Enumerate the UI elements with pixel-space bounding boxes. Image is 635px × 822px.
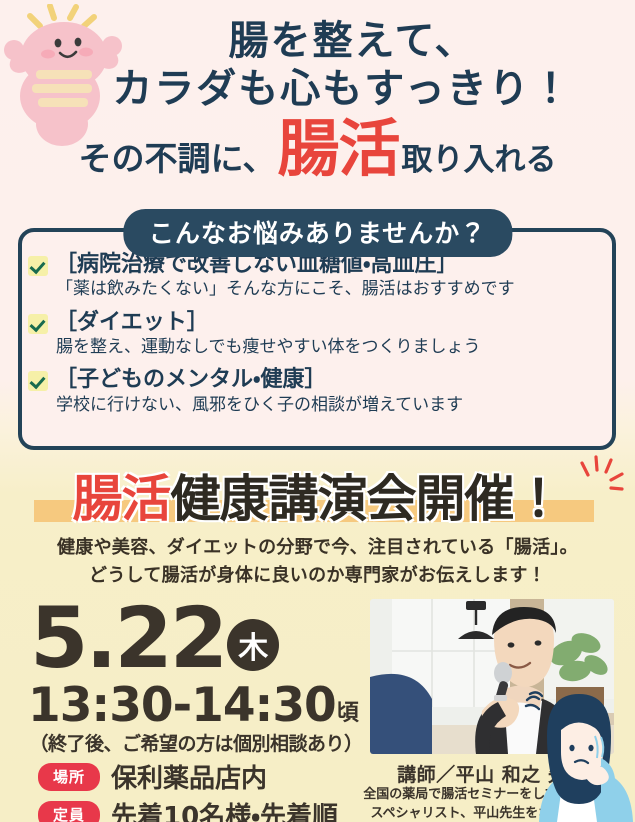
check-icon	[28, 256, 48, 276]
check-icon	[28, 314, 48, 334]
headline-suffix: 取り入れる	[402, 134, 557, 179]
intro-line-2: どうして腸活が身体に良いのか専門家がお伝えします！	[0, 562, 635, 590]
headline-prefix: その不調に、	[78, 132, 275, 180]
capacity-tag: 定員	[38, 801, 100, 822]
list-item: ［病院治療で改善しない血糖値・高血圧］ 「薬は飲みたくない」そんな方にこそ、腸活…	[28, 252, 548, 301]
headline-accent: 腸活	[278, 120, 400, 177]
venue-value: 保利薬品店内	[111, 758, 267, 795]
event-date: 5.22	[30, 596, 225, 680]
info-row-capacity: 定員 先着10名様・先着順	[38, 796, 338, 822]
day-of-week-badge: 木	[227, 619, 279, 671]
check-icon	[28, 371, 48, 391]
list-item: ［ダイエット］ 腸を整え、運動なしでも痩せやすい体をつくりましょう	[28, 310, 548, 359]
event-time-suffix: 頃	[337, 695, 359, 729]
intro-text: 健康や美容、ダイエットの分野で今、注目されている「腸活」。 どうして腸活が身体に…	[0, 534, 635, 590]
worry-list: ［病院治療で改善しない血糖値・高血圧］ 「薬は飲みたくない」そんな方にこそ、腸活…	[28, 252, 548, 425]
event-banner: 腸活健康講演会開催！	[0, 459, 635, 531]
worry-subtitle: 腸を整え、運動なしでも痩せやすい体をつくりましょう	[56, 337, 548, 358]
intro-line-1: 健康や美容、ダイエットの分野で今、注目されている「腸活」。	[0, 534, 635, 562]
headline-line-3: その不調に、 腸活 取り入れる	[0, 120, 635, 180]
poster-header: 腸を整えて、 カラダも心もすっきり！ その不調に、 腸活 取り入れる	[0, 0, 635, 205]
event-time: 13:30-14:30	[28, 682, 336, 729]
banner-rest: 健康講演会開催！	[171, 470, 563, 528]
worried-woman-illustration	[517, 682, 635, 822]
banner-accent: 腸活	[73, 470, 171, 528]
headline-line-2: カラダも心もすっきり！	[0, 56, 635, 114]
capacity-value: 先着10名様・先着順	[111, 796, 338, 822]
sparkle-icon	[578, 455, 626, 501]
worry-title: ［子どものメンタル・健康］	[55, 367, 326, 393]
event-date-row: 5.22 木	[30, 596, 279, 680]
worry-subtitle: 「薬は飲みたくない」そんな方にこそ、腸活はおすすめです	[56, 279, 548, 300]
seminar-poster: 腸を整えて、 カラダも心もすっきり！ その不調に、 腸活 取り入れる こんなお悩…	[0, 0, 635, 822]
info-row-venue: 場所 保利薬品店内	[38, 758, 267, 795]
worry-title: ［ダイエット］	[55, 310, 209, 336]
event-time-row: 13:30-14:30 頃	[28, 682, 359, 729]
venue-tag: 場所	[38, 763, 100, 791]
worry-box-title: こんなお悩みありませんか？	[123, 209, 512, 257]
event-note: （終了後、ご希望の方は個別相談あり）	[26, 729, 366, 756]
list-item: ［子どものメンタル・健康］ 学校に行けない、風邪をひく子の相談が増えています	[28, 367, 548, 416]
worry-subtitle: 学校に行けない、風邪をひく子の相談が増えています	[56, 395, 548, 416]
